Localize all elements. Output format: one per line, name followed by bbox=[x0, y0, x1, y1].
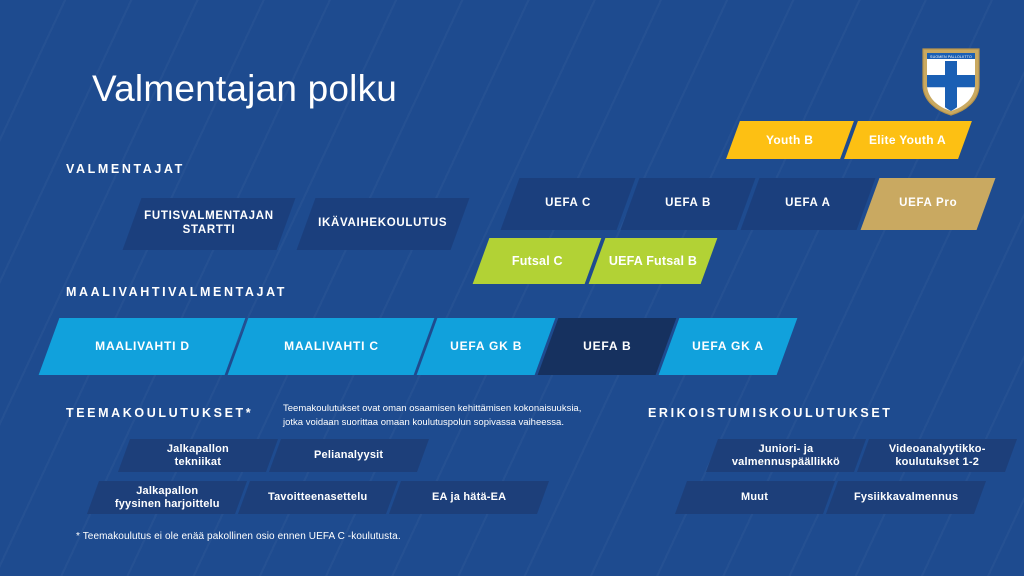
chip-maalivahti-c[interactable]: MAALIVAHTI C bbox=[228, 318, 435, 375]
chip-uefa-b-goalkeeper[interactable]: UEFA B bbox=[538, 318, 677, 375]
section-header-erikoistumiskoulutukset: ERIKOISTUMISKOULUTUKSET bbox=[648, 406, 893, 420]
coaching-pathway-infographic: Valmentajan polku SUOMEN PALLOLIITTO VAL… bbox=[0, 0, 1024, 576]
chip-videoanalyytikko-koulutukset[interactable]: Videoanalyytikko- koulutukset 1-2 bbox=[857, 439, 1017, 472]
chip-uefa-c[interactable]: UEFA C bbox=[501, 178, 636, 230]
chip-juniori-ja-valmennuspaallikko[interactable]: Juniori- ja valmennuspäällikkö bbox=[706, 439, 866, 472]
chip-fysiikkavalmennus[interactable]: Fysiikkavalmennus bbox=[826, 481, 986, 514]
page-title: Valmentajan polku bbox=[92, 68, 397, 110]
chip-elite-youth-a[interactable]: Elite Youth A bbox=[844, 121, 972, 159]
section-header-maalivahtivalmentajat: MAALIVAHTIVALMENTAJAT bbox=[66, 285, 287, 299]
palloliitto-shield-logo: SUOMEN PALLOLIITTO bbox=[921, 45, 981, 117]
chip-maalivahti-d[interactable]: MAALIVAHTI D bbox=[39, 318, 246, 375]
chip-uefa-a[interactable]: UEFA A bbox=[741, 178, 876, 230]
chip-uefa-b[interactable]: UEFA B bbox=[621, 178, 756, 230]
chip-tavoitteenasettelu[interactable]: Tavoitteenasettelu bbox=[238, 481, 398, 514]
chip-ikavaihekoulutus[interactable]: IKÄVAIHEKOULUTUS bbox=[297, 198, 470, 250]
teemakoulutukset-description: Teemakoulutukset ovat oman osaamisen keh… bbox=[283, 402, 603, 430]
chip-ea-ja-hata-ea[interactable]: EA ja hätä-EA bbox=[389, 481, 549, 514]
section-header-teemakoulutukset: TEEMAKOULUTUKSET* bbox=[66, 406, 253, 420]
footnote: * Teemakoulutus ei ole enää pakollinen o… bbox=[76, 531, 401, 542]
chip-futsal-c[interactable]: Futsal C bbox=[473, 238, 602, 284]
section-header-valmentajat: VALMENTAJAT bbox=[66, 162, 185, 176]
logo-wordmark: SUOMEN PALLOLIITTO bbox=[930, 55, 972, 59]
chip-futisvalmentajan-startti[interactable]: FUTISVALMENTAJAN STARTTI bbox=[123, 198, 296, 250]
chip-muut[interactable]: Muut bbox=[675, 481, 835, 514]
chip-pelianalyysit[interactable]: Pelianalyysit bbox=[269, 439, 429, 472]
chip-uefa-futsal-b[interactable]: UEFA Futsal B bbox=[589, 238, 718, 284]
chip-uefa-gk-a[interactable]: UEFA GK A bbox=[659, 318, 798, 375]
chip-jalkapallon-tekniikat[interactable]: Jalkapallon tekniikat bbox=[118, 439, 278, 472]
chip-youth-b[interactable]: Youth B bbox=[726, 121, 854, 159]
chip-uefa-pro[interactable]: UEFA Pro bbox=[861, 178, 996, 230]
chip-uefa-gk-b[interactable]: UEFA GK B bbox=[417, 318, 556, 375]
chip-jalkapallon-fyysinen-harjoittelu[interactable]: Jalkapallon fyysinen harjoittelu bbox=[87, 481, 247, 514]
